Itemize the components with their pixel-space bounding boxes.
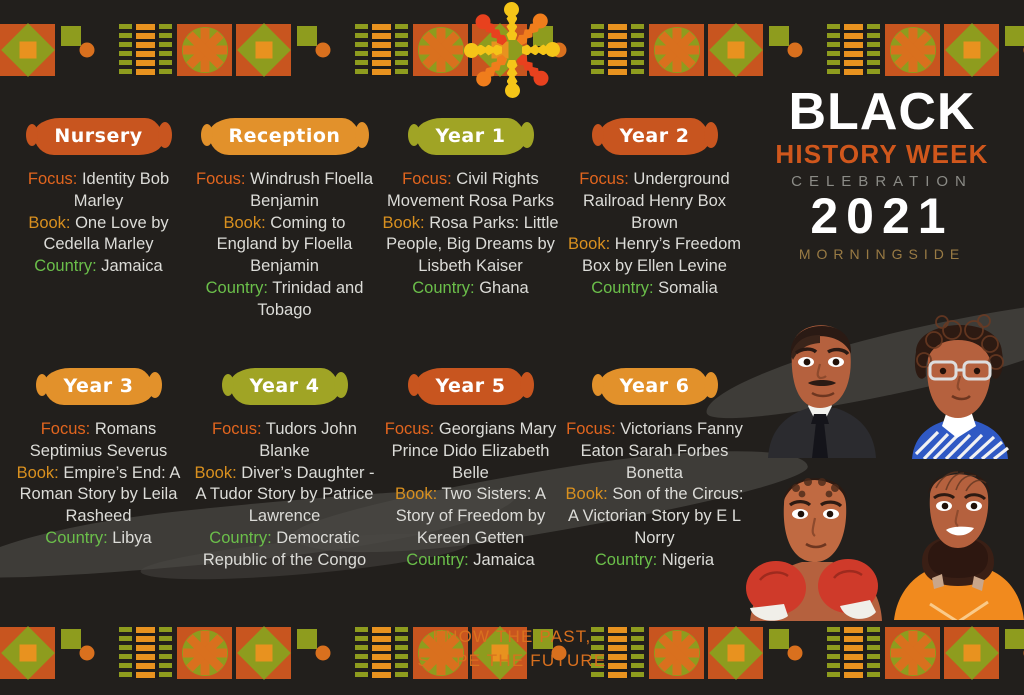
country-line: Country: Nigeria — [562, 550, 747, 572]
title-black: BLACK — [752, 88, 1012, 137]
focus-value: Windrush Floella Benjamin — [246, 170, 373, 210]
focus-label: Focus: — [212, 420, 262, 438]
year-group-details: Focus: Romans Septimius SeverusBook: Emp… — [6, 419, 191, 550]
year-group-badge[interactable]: Nursery — [34, 118, 162, 155]
kente-tile-b — [531, 627, 586, 679]
country-value: Jamaica — [469, 551, 535, 569]
focus-label: Focus: — [28, 170, 78, 188]
kente-tile-c — [826, 627, 881, 679]
focus-line: Focus: Underground Railroad Henry Box Br… — [562, 169, 747, 234]
kente-tile-b — [59, 627, 114, 679]
kente-tile-b — [295, 627, 350, 679]
year-group-badge[interactable]: Year 2 — [600, 118, 710, 155]
focus-label: Focus: — [196, 170, 246, 188]
kente-tile-b — [767, 627, 822, 679]
country-label: Country: — [34, 257, 96, 275]
year-group-badge-label: Reception — [229, 125, 341, 147]
title-year: 2021 — [752, 191, 1012, 241]
year-group-column: ReceptionFocus: Windrush Floella Benjami… — [192, 118, 377, 321]
kente-tile-a — [236, 24, 291, 76]
focus-label: Focus: — [566, 420, 616, 438]
year-group-column: Year 3Focus: Romans Septimius SeverusBoo… — [6, 368, 191, 550]
kente-tile-a — [472, 627, 527, 679]
year-group-badge-label: Year 4 — [250, 375, 320, 397]
book-label: Book: — [224, 214, 266, 232]
year-group-badge-label: Year 5 — [436, 375, 506, 397]
country-label: Country: — [206, 279, 268, 297]
kente-tile-c — [590, 627, 645, 679]
year-group-column: Year 2Focus: Underground Railroad Henry … — [562, 118, 747, 300]
country-value: Nigeria — [657, 551, 714, 569]
portrait-woman-with-glasses — [890, 304, 1024, 459]
focus-label: Focus: — [402, 170, 452, 188]
kente-tile-c — [826, 24, 881, 76]
kente-tile-a — [708, 24, 763, 76]
country-label: Country: — [412, 279, 474, 297]
kente-tile-b — [1003, 24, 1024, 76]
book-label: Book: — [566, 485, 608, 503]
focus-line: Focus: Georgians Mary Prince Dido Elizab… — [378, 419, 563, 484]
year-group-badge-label: Year 2 — [620, 125, 690, 147]
book-line: Book: Henry’s Freedom Box by Ellen Levin… — [562, 234, 747, 278]
year-group-badge[interactable]: Reception — [209, 118, 361, 155]
book-line: Book: Son of the Circus: A Victorian Sto… — [562, 484, 747, 549]
title-celebration: CELEBRATION — [752, 174, 1012, 189]
title-block: BLACK HISTORY WEEK CELEBRATION 2021 MORN… — [752, 88, 1012, 261]
country-label: Country: — [209, 529, 271, 547]
year-group-details: Focus: Civil Rights Movement Rosa ParksB… — [378, 169, 563, 300]
country-line: Country: Ghana — [378, 278, 563, 300]
focus-line: Focus: Victorians Fanny Eaton Sarah Forb… — [562, 419, 747, 484]
book-label: Book: — [382, 214, 424, 232]
portrait-boxer-with-gloves — [740, 456, 888, 621]
kente-tile-b — [59, 24, 114, 76]
book-line: Book: Coming to England by Floella Benja… — [192, 213, 377, 278]
country-line: Country: Somalia — [562, 278, 747, 300]
focus-label: Focus: — [579, 170, 629, 188]
kente-pattern-border-bottom — [0, 625, 1024, 681]
country-value: Jamaica — [97, 257, 163, 275]
country-line: Country: Jamaica — [378, 550, 563, 572]
poster-canvas: BLACK HISTORY WEEK CELEBRATION 2021 MORN… — [0, 0, 1024, 695]
focus-line: Focus: Windrush Floella Benjamin — [192, 169, 377, 213]
country-label: Country: — [45, 529, 107, 547]
country-value: Trinidad and Tobago — [257, 279, 363, 319]
kente-tile-b — [1003, 627, 1024, 679]
year-group-badge-label: Nursery — [54, 125, 142, 147]
country-line: Country: Democratic Republic of the Cong… — [192, 528, 377, 572]
kente-tile-a — [944, 24, 999, 76]
country-line: Country: Trinidad and Tobago — [192, 278, 377, 322]
year-group-badge[interactable]: Year 1 — [416, 118, 526, 155]
focus-line: Focus: Romans Septimius Severus — [6, 419, 191, 463]
country-value: Ghana — [475, 279, 529, 297]
year-group-column: NurseryFocus: Identity Bob MarleyBook: O… — [6, 118, 191, 278]
country-value: Somalia — [654, 279, 718, 297]
kente-tile-d — [177, 24, 232, 76]
year-group-details: Focus: Identity Bob MarleyBook: One Love… — [6, 169, 191, 278]
year-group-column: Year 4Focus: Tudors John BlankeBook: Div… — [192, 368, 377, 571]
community-people-circle-logo — [463, 4, 561, 96]
focus-line: Focus: Civil Rights Movement Rosa Parks — [378, 169, 563, 213]
country-line: Country: Libya — [6, 528, 191, 550]
year-group-details: Focus: Tudors John BlankeBook: Diver’s D… — [192, 419, 377, 571]
year-group-badge[interactable]: Year 3 — [44, 368, 154, 405]
year-group-column: Year 1Focus: Civil Rights Movement Rosa … — [378, 118, 563, 300]
kente-tile-c — [590, 24, 645, 76]
year-group-details: Focus: Victorians Fanny Eaton Sarah Forb… — [562, 419, 747, 571]
portrait-astronaut — [888, 450, 1024, 620]
kente-tile-b — [767, 24, 822, 76]
kente-tile-d — [413, 24, 468, 76]
kente-tile-d — [177, 627, 232, 679]
focus-value: Tudors John Blanke — [259, 420, 357, 460]
book-label: Book: — [568, 235, 610, 253]
book-label: Book: — [395, 485, 437, 503]
year-group-column: Year 6Focus: Victorians Fanny Eaton Sara… — [562, 368, 747, 571]
book-line: Book: Rosa Parks: Little People, Big Dre… — [378, 213, 563, 278]
portrait-civil-rights-leader — [750, 298, 890, 458]
kente-tile-a — [0, 24, 55, 76]
kente-tile-a — [236, 627, 291, 679]
country-label: Country: — [591, 279, 653, 297]
year-group-details: Focus: Underground Railroad Henry Box Br… — [562, 169, 747, 300]
country-label: Country: — [595, 551, 657, 569]
focus-line: Focus: Identity Bob Marley — [6, 169, 191, 213]
country-value: Libya — [108, 529, 152, 547]
book-line: Book: Empire’s End: A Roman Story by Lei… — [6, 463, 191, 528]
kente-tile-a — [944, 627, 999, 679]
kente-tile-c — [354, 24, 409, 76]
year-group-details: Focus: Georgians Mary Prince Dido Elizab… — [378, 419, 563, 571]
portrait-group — [740, 298, 1024, 638]
focus-label: Focus: — [385, 420, 435, 438]
kente-tile-b — [295, 24, 350, 76]
kente-tile-d — [885, 627, 940, 679]
book-line: Book: Two Sisters: A Story of Freedom by… — [378, 484, 563, 549]
kente-tile-c — [118, 627, 173, 679]
kente-tile-d — [885, 24, 940, 76]
title-history-week: HISTORY WEEK — [752, 141, 1012, 167]
year-group-badge-label: Year 1 — [436, 125, 506, 147]
book-line: Book: Diver’s Daughter - A Tudor Story b… — [192, 463, 377, 528]
kente-tile-a — [708, 627, 763, 679]
book-label: Book: — [17, 464, 59, 482]
year-group-badge[interactable]: Year 5 — [416, 368, 526, 405]
focus-label: Focus: — [41, 420, 91, 438]
kente-tile-a — [0, 627, 55, 679]
country-line: Country: Jamaica — [6, 256, 191, 278]
year-group-badge-label: Year 6 — [620, 375, 690, 397]
kente-tile-c — [118, 24, 173, 76]
kente-tile-d — [649, 24, 704, 76]
kente-tile-c — [354, 627, 409, 679]
year-group-badge[interactable]: Year 4 — [230, 368, 340, 405]
title-school-name: MORNINGSIDE — [752, 247, 1012, 261]
kente-tile-d — [413, 627, 468, 679]
country-label: Country: — [406, 551, 468, 569]
year-group-column: Year 5Focus: Georgians Mary Prince Dido … — [378, 368, 563, 571]
kente-tile-d — [649, 627, 704, 679]
year-group-badge-label: Year 3 — [64, 375, 134, 397]
book-line: Book: One Love by Cedella Marley — [6, 213, 191, 257]
focus-line: Focus: Tudors John Blanke — [192, 419, 377, 463]
focus-value: Identity Bob Marley — [74, 170, 169, 210]
year-group-details: Focus: Windrush Floella BenjaminBook: Co… — [192, 169, 377, 321]
book-label: Book: — [194, 464, 236, 482]
year-group-badge[interactable]: Year 6 — [600, 368, 710, 405]
book-label: Book: — [28, 214, 70, 232]
